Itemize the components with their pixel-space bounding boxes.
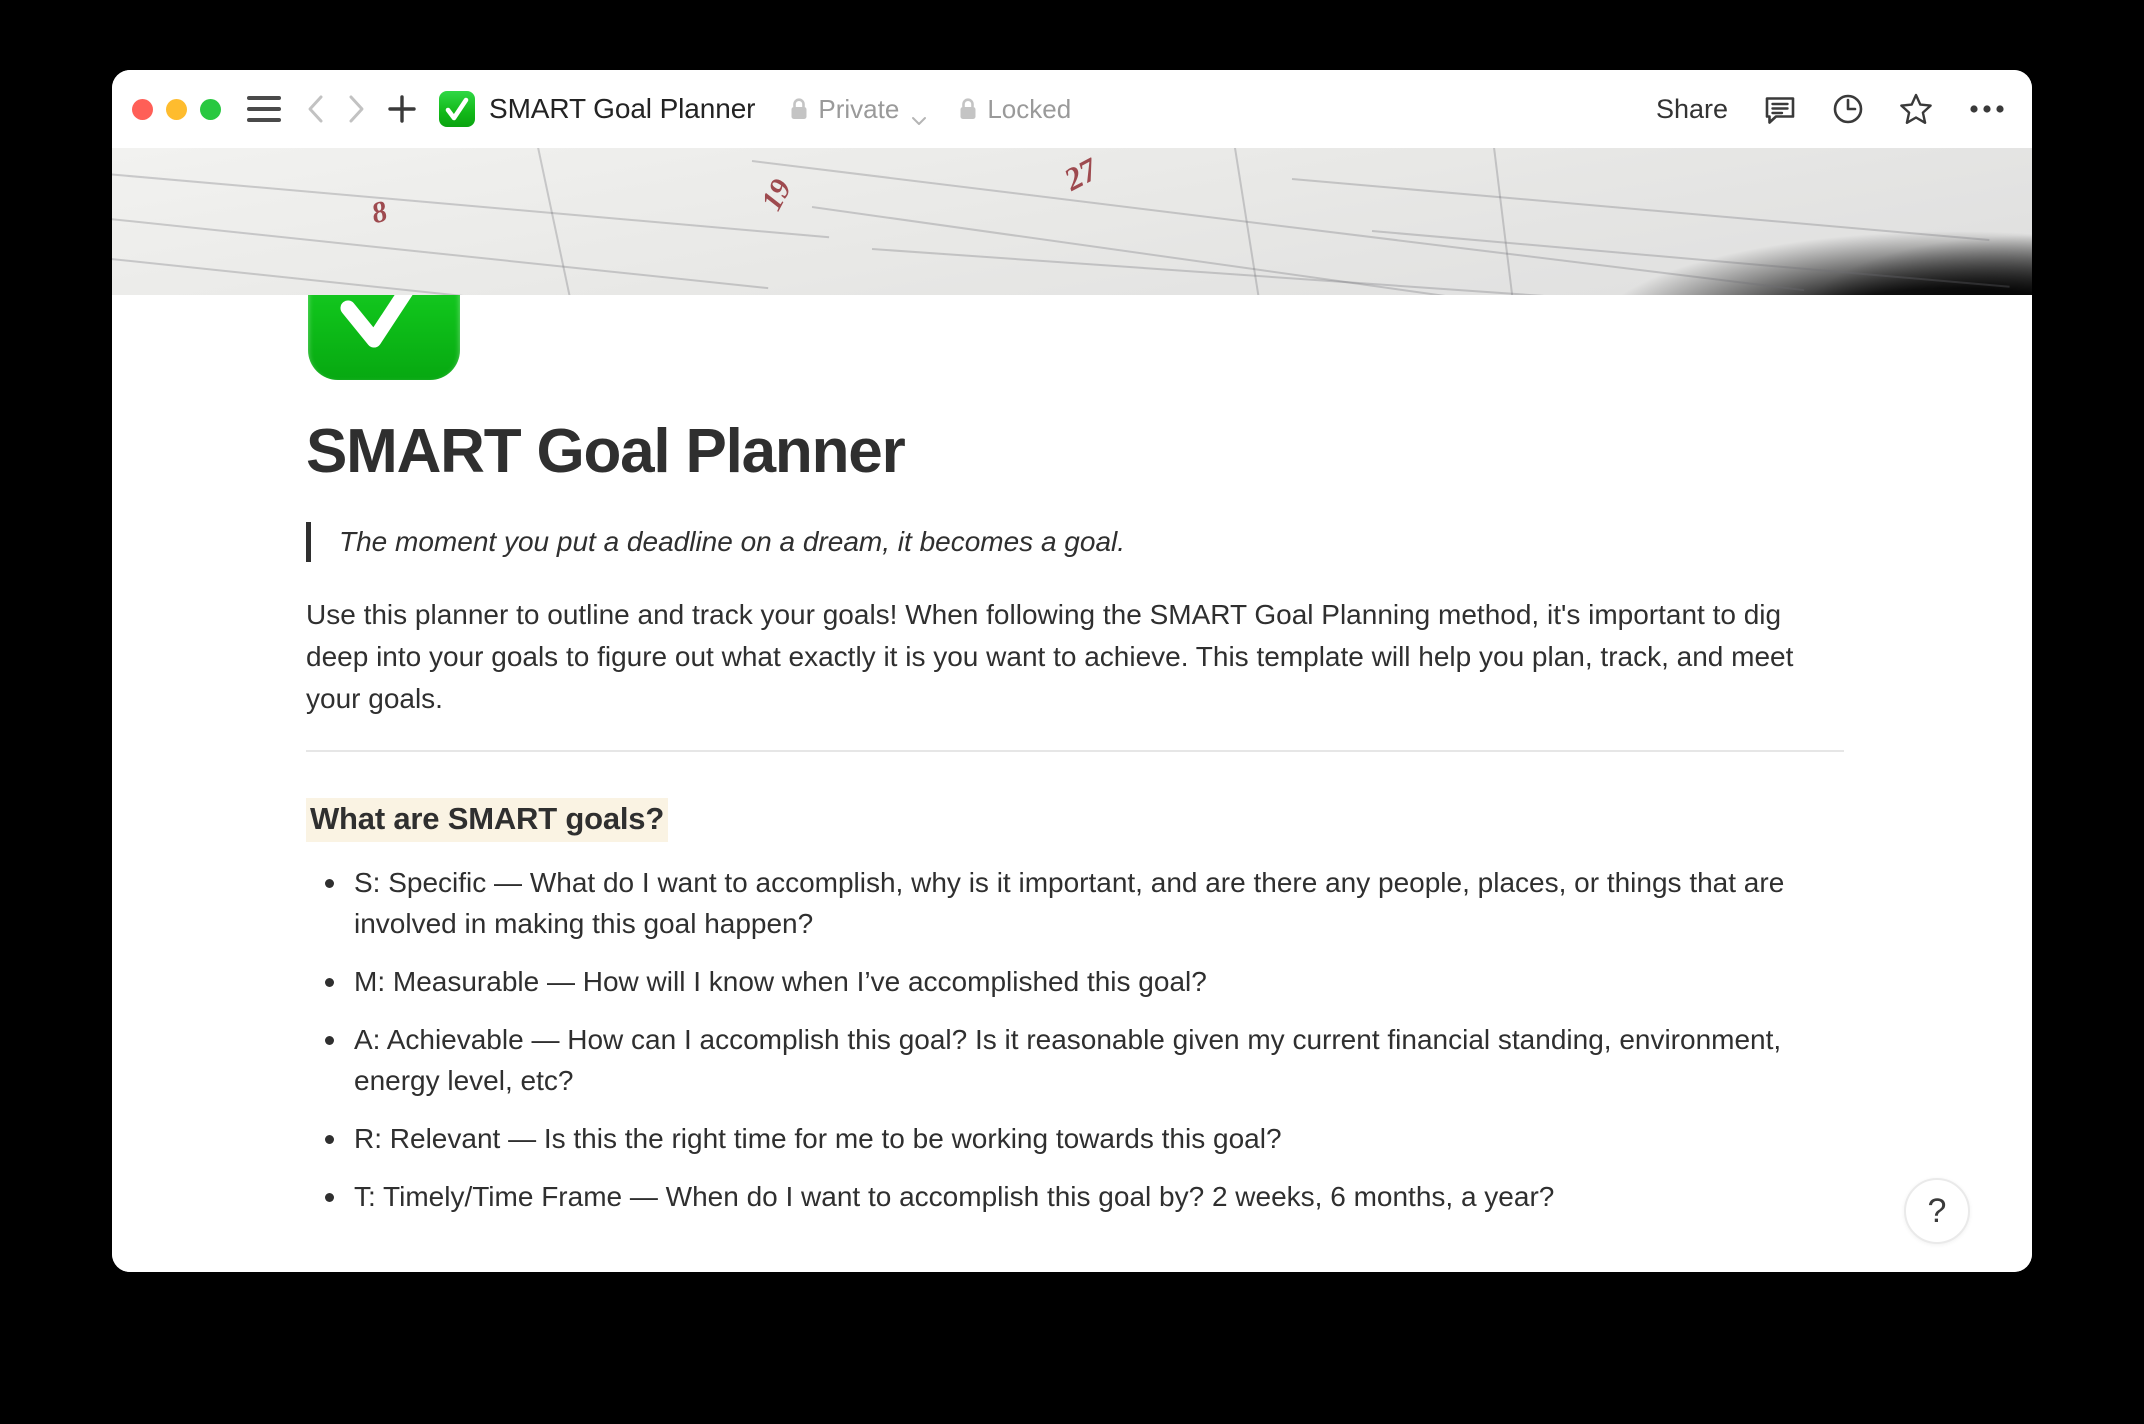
maximize-window-button[interactable]: [200, 99, 221, 120]
lock-icon: [789, 97, 809, 121]
page-content: SMART Goal Planner The moment you put a …: [112, 295, 2032, 1272]
list-item[interactable]: A: Achievable — How can I accomplish thi…: [306, 1019, 1866, 1102]
minimize-window-button[interactable]: [166, 99, 187, 120]
close-window-button[interactable]: [132, 99, 153, 120]
quote-bar: [306, 522, 311, 562]
share-button[interactable]: Share: [1656, 94, 1728, 125]
star-icon[interactable]: [1898, 91, 1934, 127]
page-title[interactable]: SMART Goal Planner: [306, 417, 1882, 486]
privacy-selector[interactable]: Private: [789, 94, 928, 125]
app-window: SMART Goal Planner Private Locked Share: [112, 70, 2032, 1272]
list-item[interactable]: M: Measurable — How will I know when I’v…: [306, 961, 1866, 1003]
locked-status[interactable]: Locked: [958, 94, 1071, 125]
list-item[interactable]: R: Relevant — Is this the right time for…: [306, 1118, 1866, 1160]
section-heading[interactable]: What are SMART goals?: [306, 798, 668, 842]
page-icon-white-check-mark-icon[interactable]: [308, 295, 460, 380]
quote-text: The moment you put a deadline on a dream…: [339, 524, 1125, 560]
list-item[interactable]: T: Timely/Time Frame — When do I want to…: [306, 1176, 1866, 1218]
document-body: SMART Goal Planner The moment you put a …: [306, 417, 1882, 1234]
cover-image[interactable]: 8 19 27: [112, 148, 2032, 295]
help-button[interactable]: ?: [1904, 1178, 1970, 1244]
chevron-left-icon[interactable]: [303, 92, 329, 126]
locked-label: Locked: [987, 94, 1071, 125]
divider: [306, 750, 1844, 752]
lock-icon: [958, 97, 978, 121]
window-controls: [132, 99, 221, 120]
privacy-label: Private: [818, 94, 899, 125]
ellipsis-icon[interactable]: [1966, 91, 2008, 127]
chevron-down-icon: [910, 103, 928, 115]
smart-goals-list: S: Specific — What do I want to accompli…: [306, 862, 1882, 1218]
toolbar: SMART Goal Planner Private Locked Share: [112, 70, 2032, 148]
navigation-arrows: [303, 92, 369, 126]
clock-history-icon[interactable]: [1830, 91, 1866, 127]
hamburger-menu-icon[interactable]: [247, 96, 281, 122]
intro-paragraph[interactable]: Use this planner to outline and track yo…: [306, 594, 1851, 719]
white-check-mark-emoji-icon: [439, 91, 475, 127]
list-item[interactable]: S: Specific — What do I want to accompli…: [306, 862, 1866, 945]
document-title[interactable]: SMART Goal Planner: [489, 93, 755, 125]
chevron-right-icon[interactable]: [343, 92, 369, 126]
plus-icon[interactable]: [385, 92, 419, 126]
comment-bubble-icon[interactable]: [1762, 91, 1798, 127]
quote-block[interactable]: The moment you put a deadline on a dream…: [306, 522, 1882, 562]
